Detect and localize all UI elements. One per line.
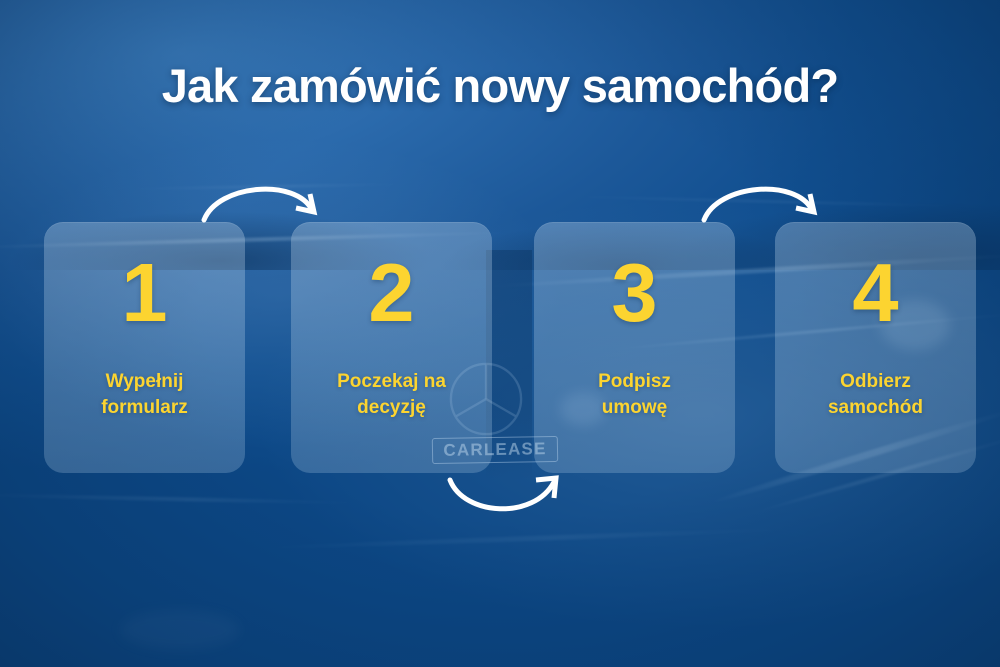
curved-arrow-right-icon xyxy=(198,172,326,228)
step-label: Poczekaj na decyzję xyxy=(301,369,483,421)
step-label-line1: Poczekaj na xyxy=(337,371,446,392)
background-headlight-glow xyxy=(120,610,240,650)
background-reflection-streak xyxy=(560,195,980,208)
step-card-4[interactable]: 4 Odbierz samochód xyxy=(775,222,976,473)
step-card-2[interactable]: 2 Poczekaj na decyzję xyxy=(291,222,492,473)
step-label-line1: Odbierz xyxy=(840,371,911,392)
step-label: Podpisz umowę xyxy=(544,369,726,421)
step-label-line2: decyzję xyxy=(357,397,426,418)
step-label-line2: samochód xyxy=(828,397,923,418)
step-number: 4 xyxy=(852,253,898,333)
background-reflection-streak xyxy=(250,526,810,551)
step-number: 2 xyxy=(368,253,414,333)
step-label-line1: Podpisz xyxy=(598,371,671,392)
background-reflection-streak xyxy=(120,182,420,190)
steps-container: 1 Wypełnij formularz 2 Poczekaj na decyz… xyxy=(44,222,956,474)
step-number: 3 xyxy=(611,253,657,333)
infographic-canvas: CARLEASE Jak zamówić nowy samochód? 1 Wy… xyxy=(0,0,1000,667)
step-number: 1 xyxy=(121,253,167,333)
background-reflection-streak xyxy=(0,493,370,505)
step-card-3[interactable]: 3 Podpisz umowę xyxy=(534,222,735,473)
step-label: Odbierz samochód xyxy=(785,369,967,421)
step-label: Wypełnij formularz xyxy=(54,369,236,421)
step-label-line2: formularz xyxy=(101,397,188,418)
page-title: Jak zamówić nowy samochód? xyxy=(0,62,1000,109)
step-label-line1: Wypełnij xyxy=(106,371,184,392)
step-label-line2: umowę xyxy=(602,397,667,418)
step-card-1[interactable]: 1 Wypełnij formularz xyxy=(44,222,245,473)
